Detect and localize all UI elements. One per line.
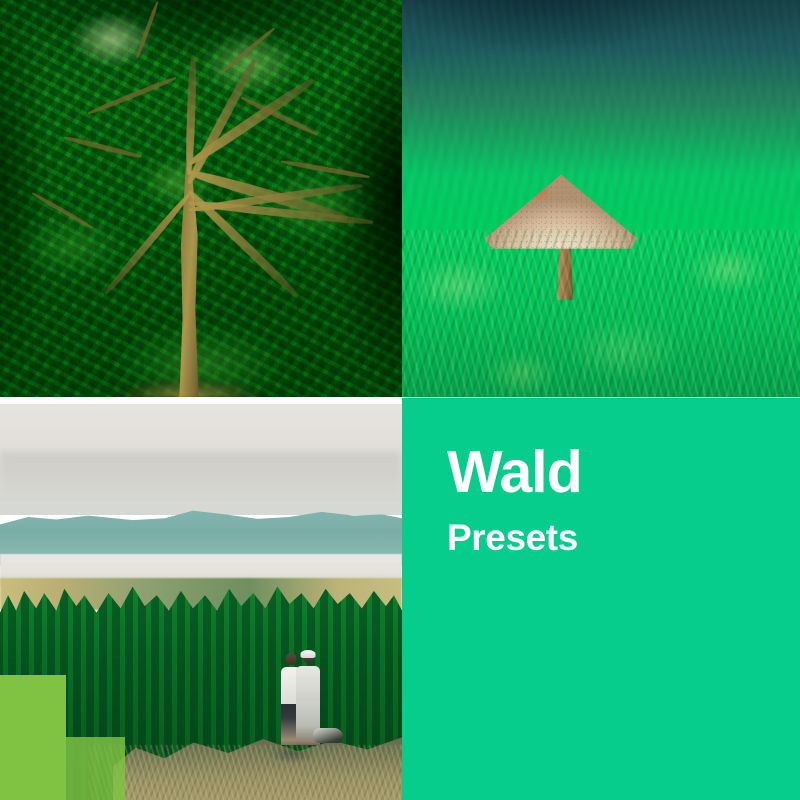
tree-branch <box>103 192 192 296</box>
tree-twig <box>135 1 159 59</box>
foreground-scrub <box>88 745 402 800</box>
tree-twig <box>31 191 94 229</box>
person-head <box>286 653 297 665</box>
page-subtitle: Presets <box>447 519 582 556</box>
cloud-band <box>0 452 402 507</box>
backpack <box>313 728 343 743</box>
tree-twig <box>64 135 143 159</box>
hiking-couple <box>281 649 323 745</box>
page-title: Wald <box>447 443 582 502</box>
accent-square-large <box>0 675 66 800</box>
grass-foreground-blades <box>402 230 800 397</box>
tree-twig <box>281 159 371 180</box>
forest-tree-photo <box>0 0 402 397</box>
accent-square-small <box>66 737 125 800</box>
poster-canvas: Wald Presets <box>0 0 800 800</box>
grid-gutter-horizontal <box>0 397 402 404</box>
person-cap <box>301 650 316 658</box>
mushroom-photo <box>402 0 800 397</box>
brand-panel: Wald Presets <box>402 398 800 800</box>
brand-copy-block: Wald Presets <box>447 443 582 556</box>
tree-twig <box>88 76 178 116</box>
